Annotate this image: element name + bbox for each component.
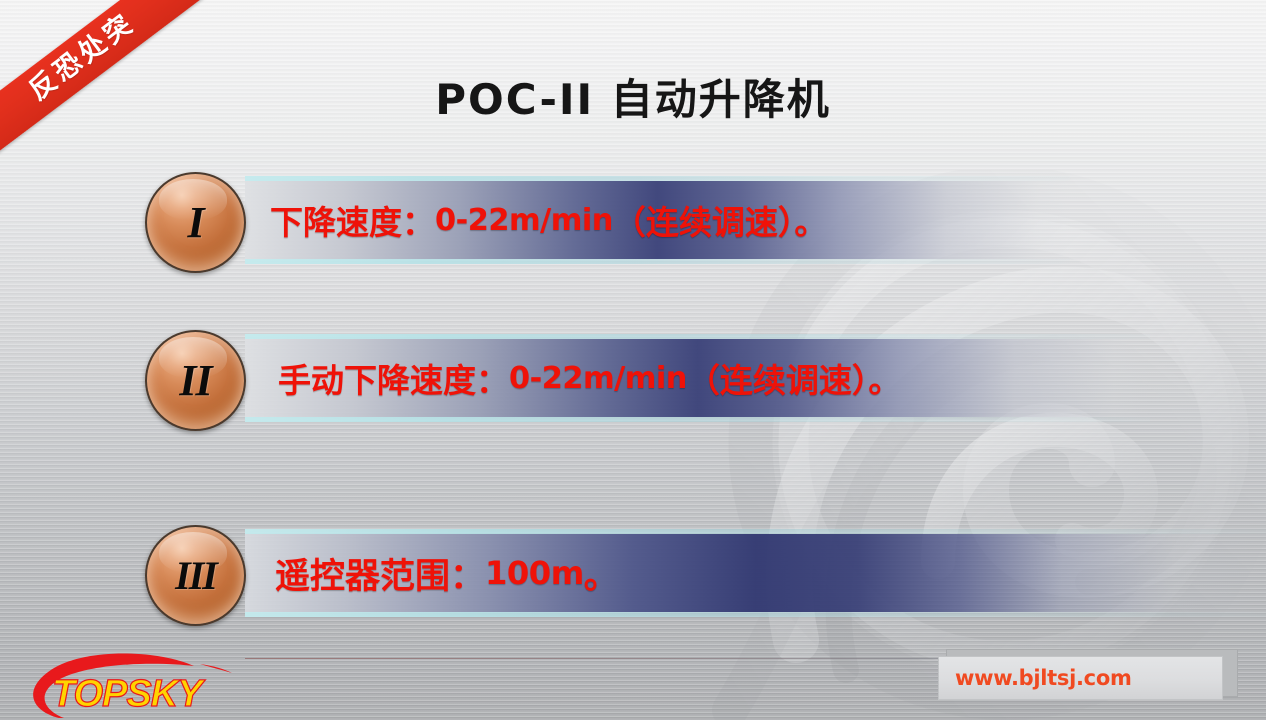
bullet-numeral-2: II: [179, 359, 211, 403]
corner-ribbon: 反恐处突: [0, 0, 215, 160]
bullet-text-3: 遥控器范围：100m。: [275, 523, 619, 623]
url-panel-box[interactable]: www.bjltsj.com: [938, 656, 1223, 700]
bullet-text-2: 手动下降速度：0-22m/min（连续调速）。: [278, 328, 901, 428]
bullet-value-1: 0-22m/min: [435, 203, 613, 238]
svg-text:TOPSKY: TOPSKY: [52, 673, 206, 715]
bullet-suffix-2: （连续调速）。: [687, 354, 902, 402]
bullet-value-2: 0-22m/min: [509, 361, 687, 396]
presentation-slide: 反恐处突 POC-II 自动升降机 I 下降速度：0-22m/min（连续调速）…: [0, 0, 1266, 720]
bullet-suffix-3: 。: [584, 548, 619, 599]
bullet-numeral-3: III: [175, 556, 216, 596]
bullet-row-2: II 手动下降速度：0-22m/min（连续调速）。: [140, 328, 1150, 428]
bullet-badge-1: I: [145, 172, 246, 273]
topsky-logo: TOPSKY: [8, 646, 248, 718]
bullet-suffix-1: （连续调速）。: [613, 196, 828, 244]
bullet-label-1: 下降速度：: [270, 196, 435, 244]
bullet-text-1: 下降速度：0-22m/min（连续调速）。: [270, 170, 827, 270]
bullet-value-3: 100m: [485, 554, 584, 592]
bullet-badge-3: III: [145, 525, 246, 626]
website-url-panel[interactable]: www.bjltsj.com: [938, 653, 1228, 699]
bullet-row-3: III 遥控器范围：100m。: [140, 523, 1266, 623]
bullet-row-1: I 下降速度：0-22m/min（连续调速）。: [140, 170, 1070, 270]
bullet-label-2: 手动下降速度：: [278, 354, 509, 402]
corner-ribbon-label: 反恐处突: [0, 0, 213, 160]
bullet-label-3: 遥控器范围：: [275, 548, 485, 599]
website-url-text: www.bjltsj.com: [955, 666, 1132, 690]
bullet-badge-2: II: [145, 330, 246, 431]
bullet-numeral-1: I: [187, 201, 203, 245]
